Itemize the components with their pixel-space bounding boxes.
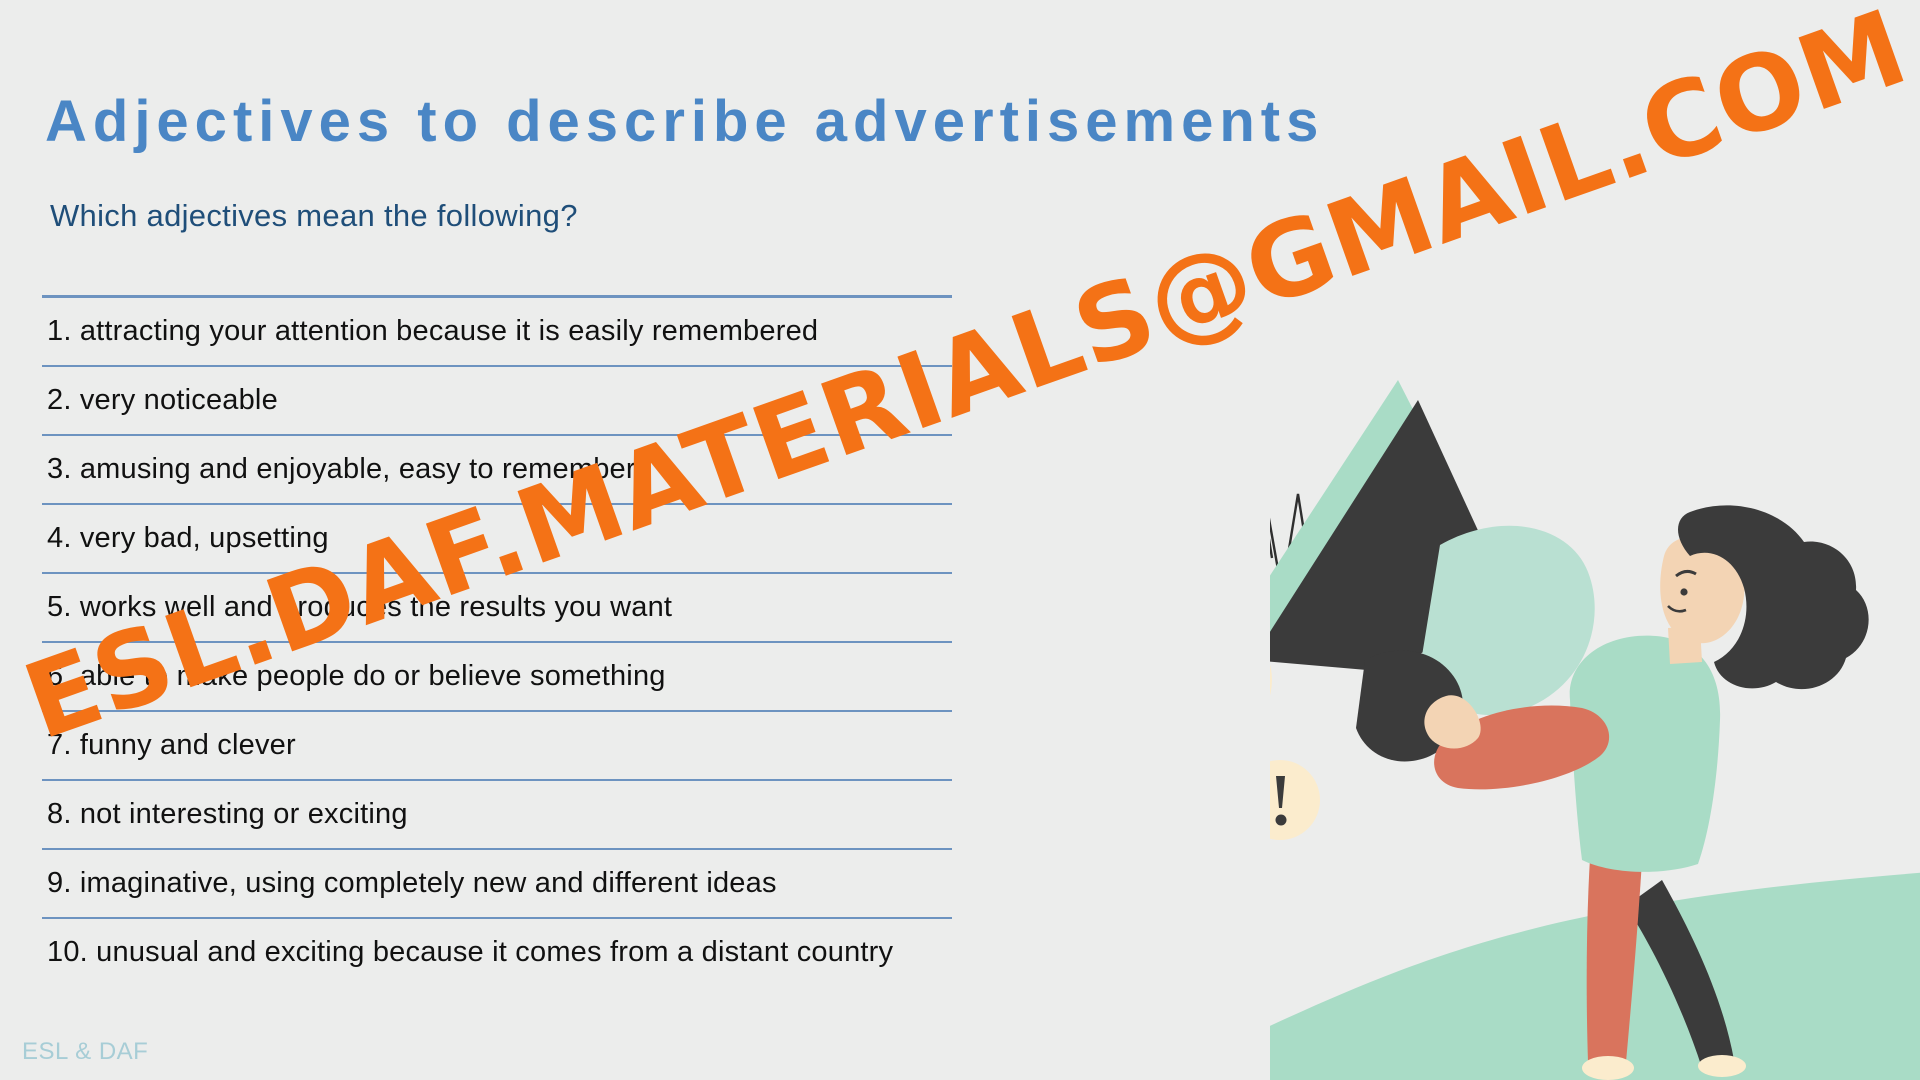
list-item[interactable]: 6. able to make people do or believe som… (42, 643, 952, 710)
figure-shoe-back (1698, 1055, 1746, 1077)
figure-hair (1678, 505, 1869, 689)
hill-shape (1270, 872, 1920, 1080)
figure-arm (1434, 706, 1609, 790)
list-item[interactable]: 4. very bad, upsetting (42, 505, 952, 572)
figure-eye (1680, 588, 1687, 595)
woman-with-megaphone-illustration (1270, 360, 1920, 1080)
list-item[interactable]: 5. works well and produces the results y… (42, 574, 952, 641)
list-item-text: 8. not interesting or exciting (47, 798, 408, 831)
list-item-text: 9. imaginative, using completely new and… (47, 867, 777, 900)
list-item[interactable]: 7. funny and clever (42, 712, 952, 779)
page-subtitle: Which adjectives mean the following? (50, 198, 578, 234)
exclamation-badge-small (1270, 760, 1320, 840)
list-item-text: 2. very noticeable (47, 384, 278, 417)
list-item[interactable]: 1. attracting your attention because it … (42, 298, 952, 365)
megaphone-handle (1356, 650, 1463, 761)
megaphone-body (1420, 526, 1595, 715)
list-item[interactable]: 8. not interesting or exciting (42, 781, 952, 848)
exclamation-badge-large (1270, 620, 1272, 740)
figure-torso (1570, 636, 1720, 872)
list-item-text: 3. amusing and enjoyable, easy to rememb… (47, 453, 636, 486)
exclamation-dot-small (1276, 815, 1287, 826)
list-item-text: 6. able to make people do or believe som… (47, 660, 666, 693)
figure-neck (1668, 626, 1702, 664)
list-item-text: 10. unusual and exciting because it come… (47, 936, 893, 969)
definitions-list: 1. attracting your attention because it … (42, 295, 952, 986)
figure-mouth (1668, 606, 1686, 611)
sound-lines-icon (1270, 438, 1313, 592)
exclamation-bar-small (1276, 776, 1285, 808)
list-item-text: 7. funny and clever (47, 729, 296, 762)
list-item[interactable]: 3. amusing and enjoyable, easy to rememb… (42, 436, 952, 503)
figure-shoe-front (1582, 1056, 1634, 1080)
megaphone-cone-highlight (1270, 380, 1505, 660)
figure-front-leg (1587, 858, 1642, 1062)
figure-hand (1424, 695, 1480, 748)
slide-canvas: Adjectives to describe advertisements Wh… (0, 0, 1920, 1080)
list-item-text: 4. very bad, upsetting (47, 522, 329, 555)
page-title: Adjectives to describe advertisements (45, 88, 1324, 155)
megaphone-cone (1270, 400, 1510, 672)
footer-credit: ESL & DAF (22, 1038, 148, 1066)
list-item[interactable]: 9. imaginative, using completely new and… (42, 850, 952, 917)
figure-eyebrow (1676, 571, 1696, 576)
list-item[interactable]: 2. very noticeable (42, 367, 952, 434)
list-item-text: 1. attracting your attention because it … (47, 315, 818, 348)
list-item[interactable]: 10. unusual and exciting because it come… (42, 919, 952, 986)
figure-face (1660, 536, 1744, 643)
figure-back-leg (1626, 880, 1734, 1068)
list-item-text: 5. works well and produces the results y… (47, 591, 672, 624)
